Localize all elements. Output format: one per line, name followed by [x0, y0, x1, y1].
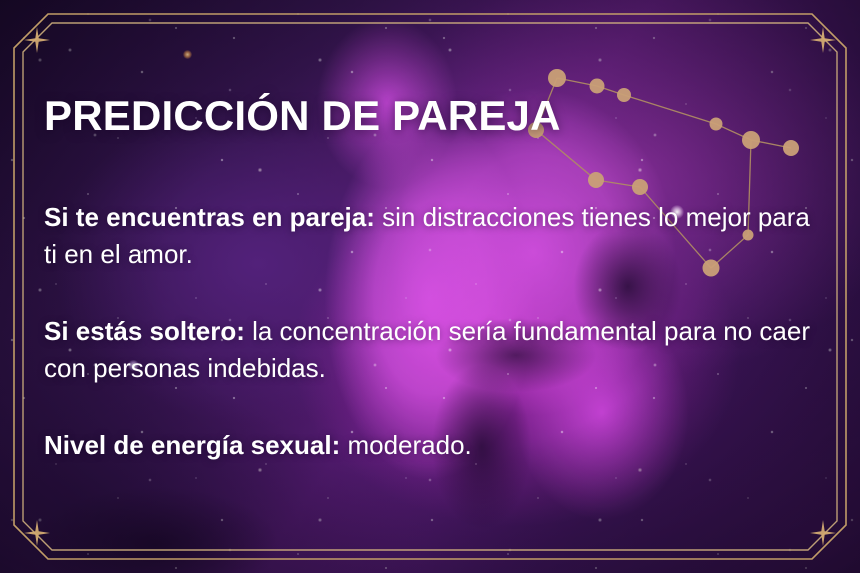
paragraph-pareja: Si te encuentras en pareja: sin distracc… — [44, 199, 814, 273]
horoscope-prediction-card: PREDICCIÓN DE PAREJA Si te encuentras en… — [0, 0, 860, 573]
paragraph-energia-body: moderado. — [340, 430, 472, 460]
page-title: PREDICCIÓN DE PAREJA — [44, 95, 561, 137]
card-content: PREDICCIÓN DE PAREJA Si te encuentras en… — [44, 0, 826, 573]
paragraph-soltero-lead: Si estás soltero: — [44, 316, 245, 346]
paragraph-pareja-lead: Si te encuentras en pareja: — [44, 202, 375, 232]
paragraph-energia: Nivel de energía sexual: moderado. — [44, 427, 814, 464]
paragraph-energia-lead: Nivel de energía sexual: — [44, 430, 340, 460]
paragraph-soltero: Si estás soltero: la concentración sería… — [44, 313, 814, 387]
